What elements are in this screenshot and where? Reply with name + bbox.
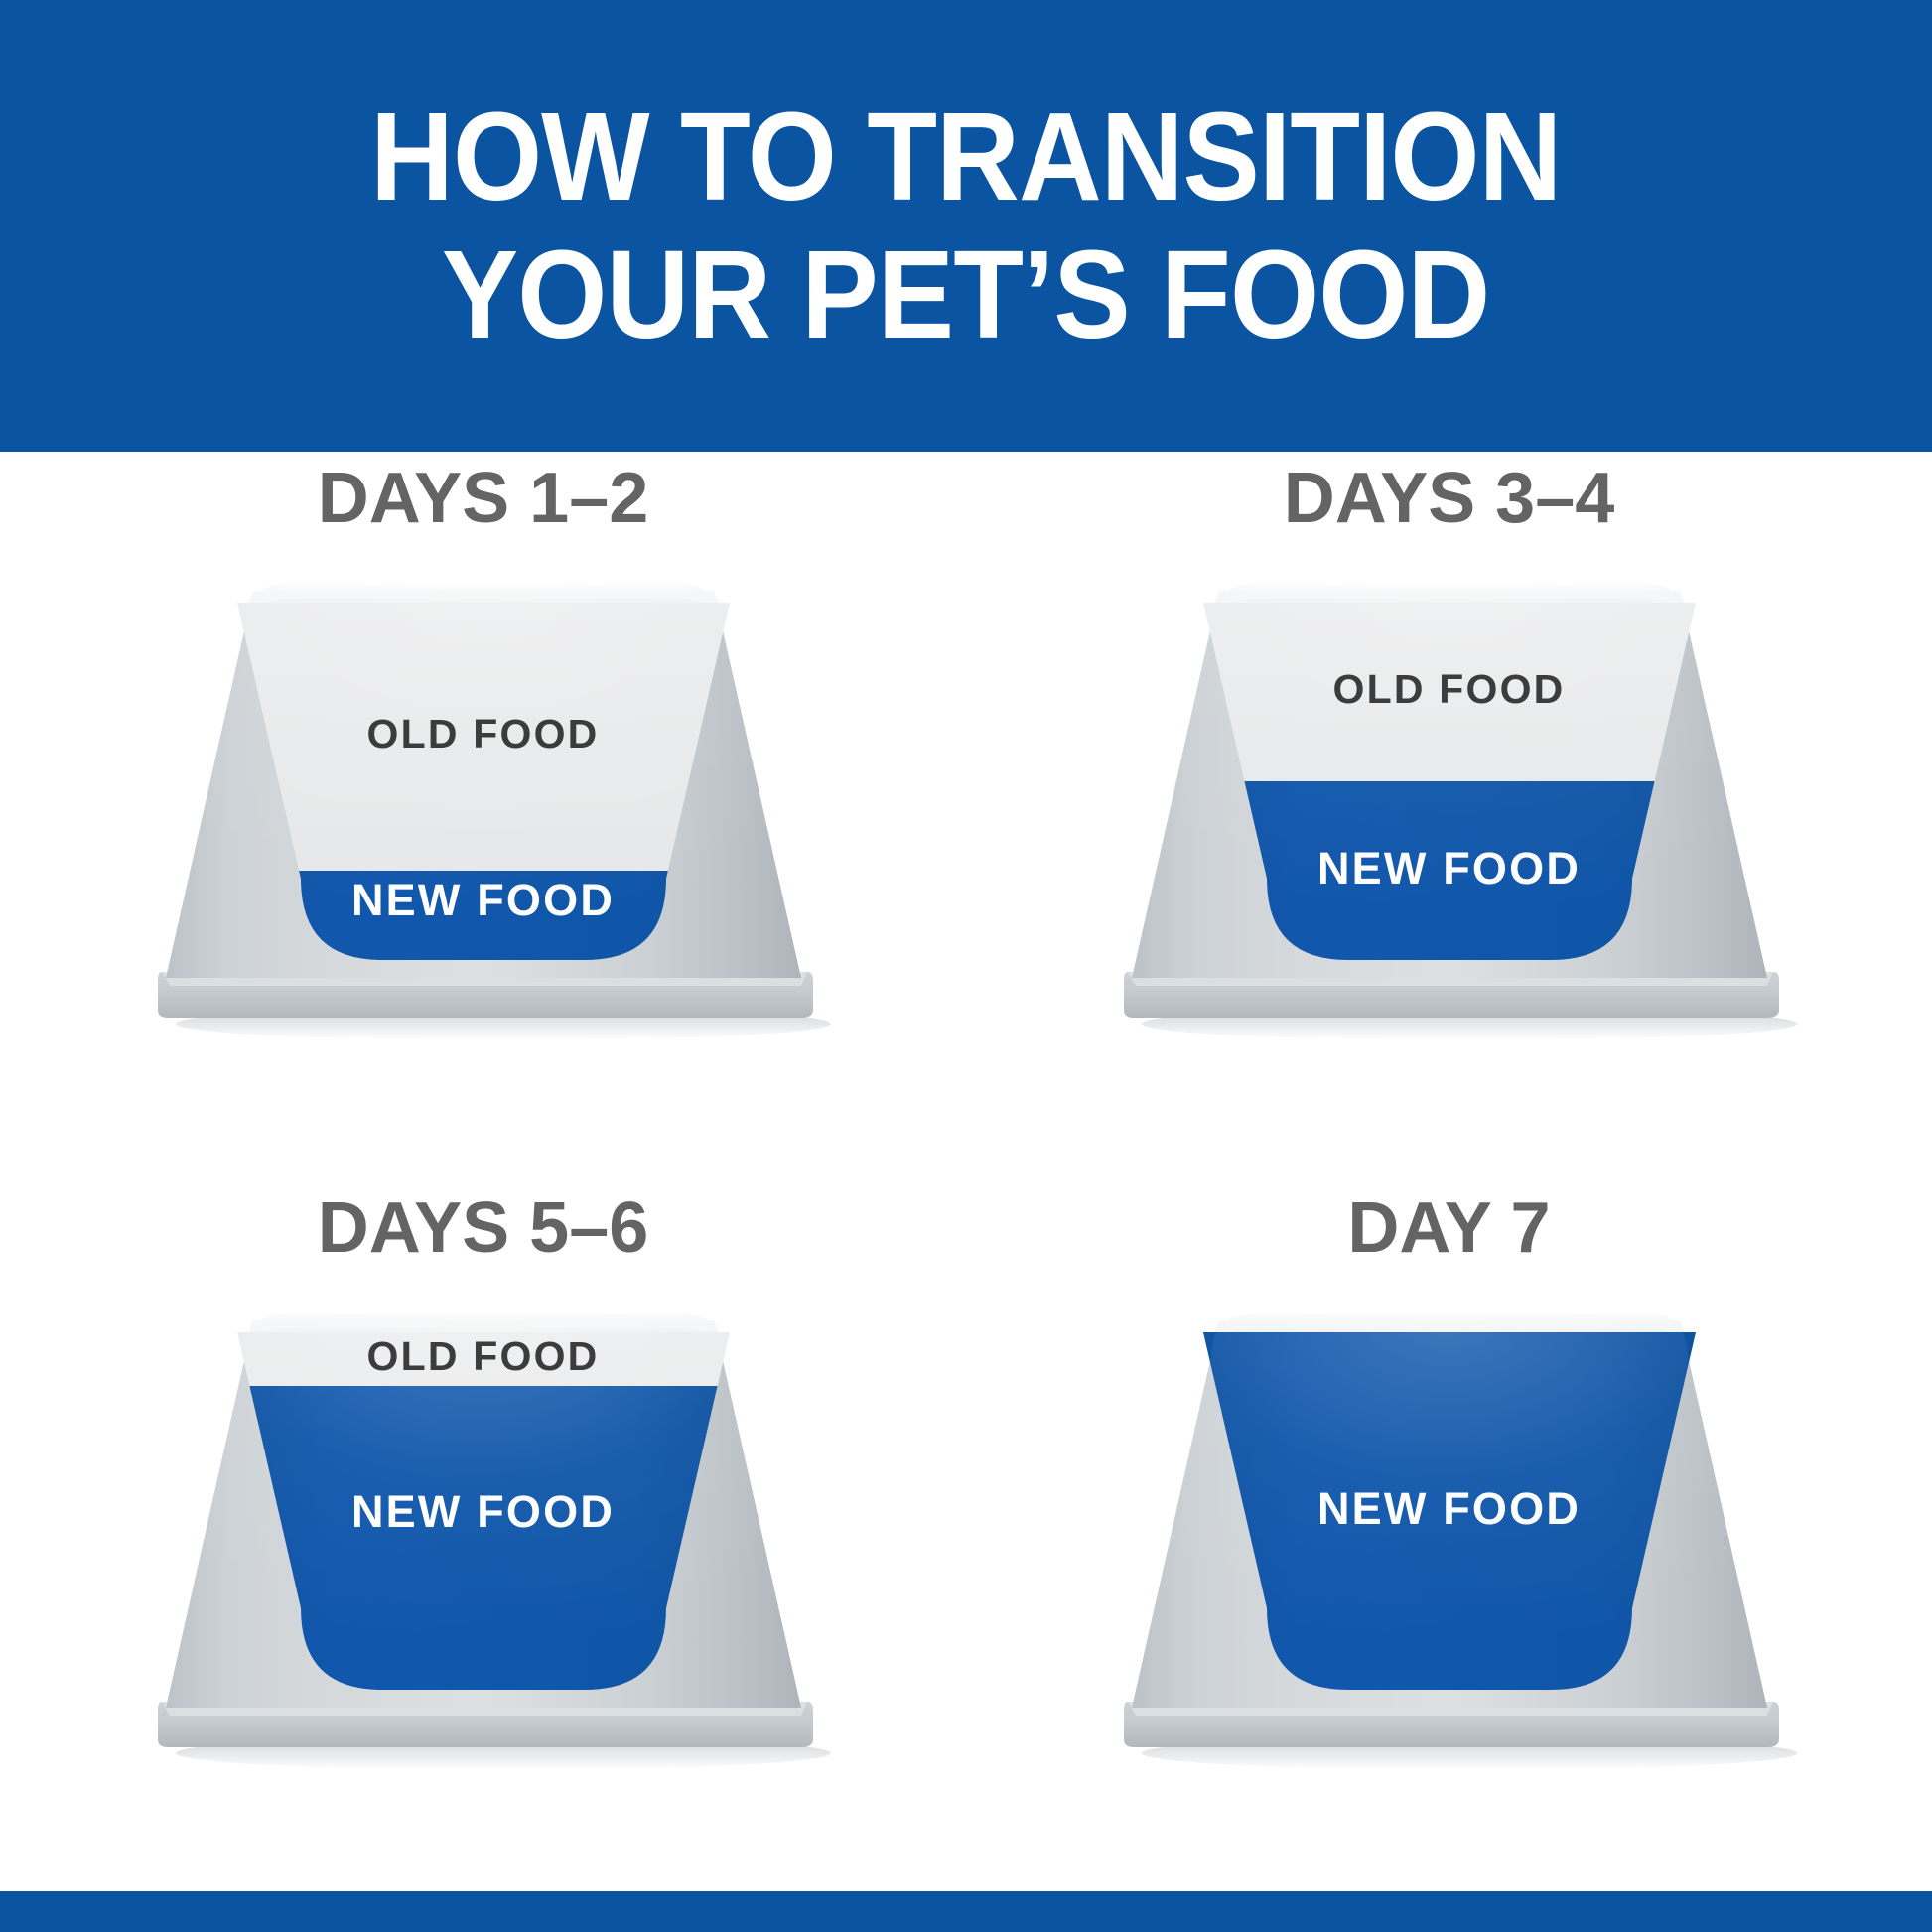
bowl-graphic-days-1-2: OLD FOODNEW FOOD <box>106 561 861 1067</box>
bowl-graphic-days-3-4: OLD FOODNEW FOOD <box>1072 561 1827 1067</box>
bowl-graphic-days-5-6: OLD FOODNEW FOOD <box>106 1291 861 1797</box>
footer-banner <box>0 1891 1932 1932</box>
bowl-gloss <box>166 1314 801 1708</box>
panel-day-7: DAY 7 <box>966 1172 1932 1891</box>
bowl-graphic-day-7: NEW FOOD <box>1072 1291 1827 1797</box>
transition-steps-grid: DAYS 1–2 <box>0 452 1932 1891</box>
bowl-svg <box>106 561 861 1067</box>
bowl-svg <box>1072 1291 1827 1797</box>
bowl-svg <box>106 1291 861 1797</box>
panel-label-days-5-6: DAYS 5–6 <box>318 1187 649 1269</box>
page-title-line-1: HOW TO TRANSITION <box>370 88 1561 226</box>
bowl-gloss <box>166 585 801 978</box>
panel-label-day-7: DAY 7 <box>1347 1187 1550 1269</box>
header-banner: HOW TO TRANSITION YOUR PET’S FOOD <box>0 0 1932 452</box>
bowl-gloss <box>1132 1314 1767 1708</box>
panel-days-3-4: DAYS 3–4 <box>966 452 1932 1172</box>
page-title-line-2: YOUR PET’S FOOD <box>442 226 1489 364</box>
bowl-svg <box>1072 561 1827 1067</box>
panel-label-days-1-2: DAYS 1–2 <box>318 458 649 539</box>
bowl-gloss <box>1132 585 1767 978</box>
panel-days-5-6: DAYS 5–6 <box>0 1172 966 1891</box>
panel-label-days-3-4: DAYS 3–4 <box>1284 458 1615 539</box>
panel-days-1-2: DAYS 1–2 <box>0 452 966 1172</box>
